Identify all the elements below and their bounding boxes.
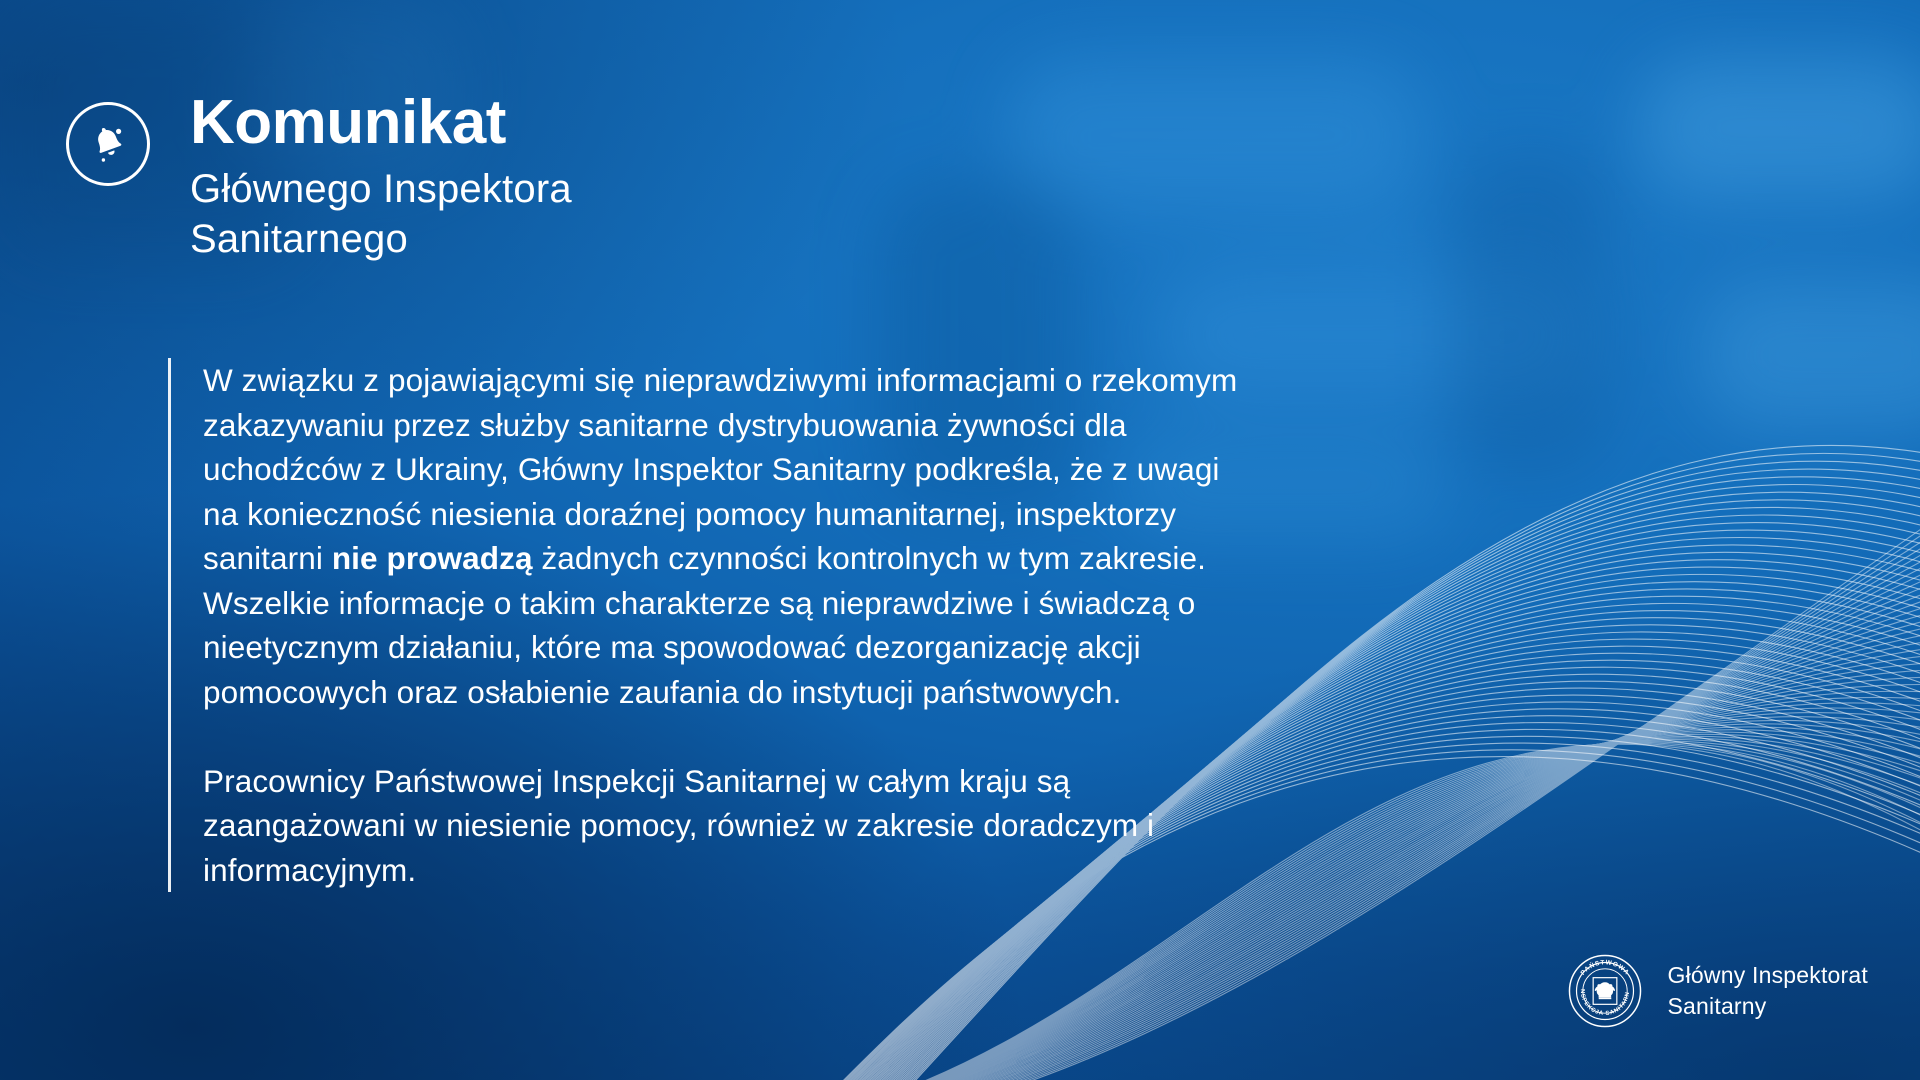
organization-name: Główny Inspektorat Sanitarny	[1668, 960, 1868, 1021]
footer-logo: PAŃSTWOWA INSPEKCJA SANITARNA Główny Ins…	[1568, 954, 1868, 1028]
page-subtitle: Głównego Inspektora Sanitarnego	[190, 164, 572, 265]
state-sanitary-inspection-seal-icon: PAŃSTWOWA INSPEKCJA SANITARNA	[1568, 954, 1642, 1028]
paragraph-1: W związku z pojawiającymi się nieprawdzi…	[203, 358, 1263, 715]
svg-text:PAŃSTWOWA: PAŃSTWOWA	[1579, 959, 1630, 976]
header: Komunikat Głównego Inspektora Sanitarneg…	[66, 92, 572, 265]
bell-icon	[66, 102, 150, 186]
paragraph-2: Pracownicy Państwowej Inspekcji Sanitarn…	[203, 759, 1263, 893]
page-title: Komunikat	[190, 92, 572, 154]
header-titles: Komunikat Głównego Inspektora Sanitarneg…	[190, 92, 572, 265]
message-body: W związku z pojawiającymi się nieprawdzi…	[168, 358, 1263, 892]
slide-canvas: Komunikat Głównego Inspektora Sanitarneg…	[0, 0, 1920, 1080]
emphasis-nie-prowadza: nie prowadzą	[332, 540, 533, 576]
